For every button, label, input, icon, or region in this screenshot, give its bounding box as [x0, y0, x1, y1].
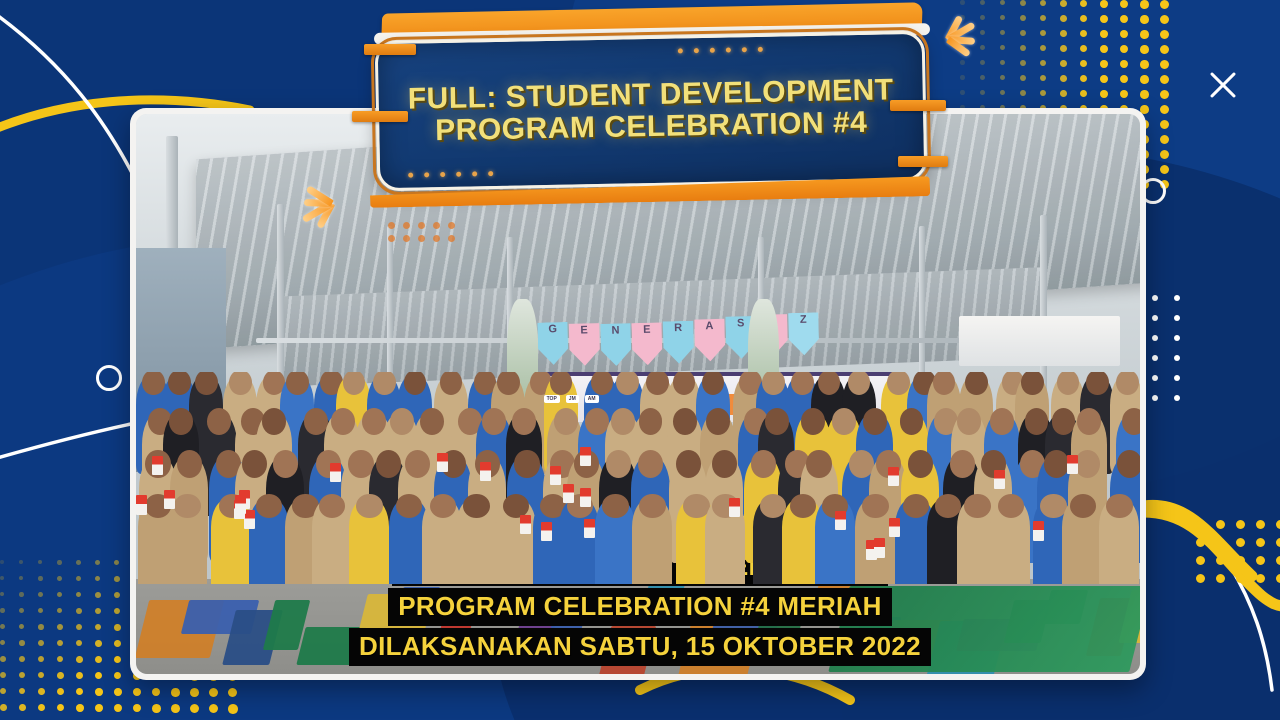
crowd-person-head — [207, 408, 231, 435]
crowd-person-head — [585, 408, 609, 435]
crowd-person-head — [1117, 450, 1140, 478]
crowd-person-head — [863, 408, 887, 435]
crowd-person-head — [497, 372, 520, 396]
crowd-person-head — [514, 450, 539, 478]
crowd-person-head — [1070, 494, 1097, 518]
banner-dots-top — [678, 47, 763, 54]
crowd-person-head — [174, 494, 201, 518]
crowd-person-head — [990, 408, 1014, 435]
banner-body: FULL: STUDENT DEVELOPMENT PROGRAM CELEBR… — [375, 31, 928, 192]
crowd-person-head — [935, 494, 962, 518]
garland-flag: G — [537, 321, 568, 364]
crowd-person-head — [390, 408, 414, 435]
garland-flag: Z — [788, 312, 819, 355]
crowd-person-head — [832, 408, 856, 435]
title-line-2: PROGRAM CELEBRATION #4 — [408, 106, 894, 147]
crowd-scarf — [520, 515, 531, 534]
backdrop-logo: AM — [585, 395, 599, 403]
crowd-person-head — [862, 494, 889, 518]
crowd-scarf — [330, 463, 341, 482]
banner-dots-bottom — [408, 171, 493, 178]
crowd-person-head — [362, 408, 386, 435]
crowd-person-head — [286, 372, 309, 396]
crowd-person-head — [482, 408, 506, 435]
crowd-person-head — [908, 450, 933, 478]
crowd-person-head — [242, 450, 267, 478]
crowd-person-head — [965, 372, 988, 396]
crowd-person-head — [712, 450, 737, 478]
crowd-person-head — [1025, 408, 1049, 435]
crowd-person-head — [376, 450, 401, 478]
crowd-person-head — [512, 408, 536, 435]
garland-flag: R — [662, 320, 693, 363]
crowd-person-head — [760, 494, 787, 518]
crowd-scarf — [889, 518, 900, 537]
crowd-scarf — [1067, 455, 1078, 474]
x-icon — [1206, 68, 1240, 102]
garland-flag: E — [631, 322, 662, 365]
crowd-person-head — [463, 494, 490, 518]
garland-flag: E — [568, 322, 599, 365]
photo-beam — [387, 226, 393, 394]
photo-beam — [277, 204, 284, 394]
crowd-scarf — [164, 490, 175, 509]
crowd-person-head — [998, 494, 1025, 518]
crowd-person-head — [177, 450, 202, 478]
crowd-person-head — [903, 494, 930, 518]
crowd-scarf — [580, 488, 591, 507]
crowd-person-head — [1122, 408, 1140, 435]
crowd-person-head — [801, 408, 825, 435]
photo-beam — [919, 226, 925, 383]
crowd-person-head — [1075, 450, 1100, 478]
photo-beam — [1040, 215, 1047, 394]
crowd-person-head — [602, 494, 629, 518]
crowd-person-head — [765, 408, 789, 435]
photo-banner-right — [959, 316, 1120, 366]
crowd-person-head — [791, 372, 814, 396]
banner-tab-left-top — [364, 44, 416, 55]
crowd-scarf — [480, 462, 491, 481]
crowd-person-head — [706, 408, 730, 435]
crowd-scarf — [152, 456, 163, 475]
crowd-person-head — [1021, 372, 1044, 396]
crowd-person-head — [169, 408, 193, 435]
crowd-person-head — [900, 408, 924, 435]
crowd-person-head — [964, 494, 991, 518]
crowd-scarf — [729, 498, 740, 517]
crowd-person-head — [639, 494, 666, 518]
crowd-person-head — [673, 408, 697, 435]
crowd-person-head — [611, 408, 635, 435]
crowd-person-head — [273, 450, 298, 478]
crowd-person-head — [373, 372, 396, 396]
crowd-person-head — [356, 494, 383, 518]
crowd-scarf — [136, 495, 147, 514]
crowd-person-head — [790, 494, 817, 518]
crowd-person-head — [957, 408, 981, 435]
crowd-person-head — [331, 408, 355, 435]
crowd-person-head — [420, 408, 444, 435]
title-text: FULL: STUDENT DEVELOPMENT PROGRAM CELEBR… — [394, 74, 909, 147]
crowd-person-head — [430, 494, 457, 518]
photo-crowd — [136, 372, 1140, 585]
crowd-scarf — [1033, 521, 1044, 540]
crowd-scarf — [580, 447, 591, 466]
crowd-person-head — [396, 494, 423, 518]
crowd-person-head — [616, 372, 639, 396]
crowd-person-head — [639, 408, 663, 435]
crowd-person-head — [1106, 494, 1133, 518]
crowd-scarf — [874, 538, 885, 557]
banner-tab-left-bottom — [352, 111, 408, 122]
crowd-scarf — [563, 484, 574, 503]
crowd-scarf — [437, 453, 448, 472]
crowd-scarf — [541, 522, 552, 541]
garland-flag: N — [600, 323, 631, 366]
crowd-scarf — [584, 519, 595, 538]
crowd-person-head — [142, 372, 165, 396]
banner-tab-right-top — [890, 100, 946, 111]
crowd-person-head — [168, 372, 191, 396]
crowd-person-head — [554, 408, 578, 435]
crowd-person-head — [806, 450, 831, 478]
circle-outline-left — [96, 365, 122, 391]
caption-line-3: DILAKSANAKAN SABTU, 15 OKTOBER 2022 — [349, 628, 931, 666]
video-thumbnail-canvas: GENERASIZ TOPJMAM FULL: STUDENT DEVELOPM… — [0, 0, 1280, 720]
crowd-scarf — [550, 466, 561, 485]
caption-line-2: PROGRAM CELEBRATION #4 MERIAH — [388, 588, 891, 626]
crowd-person-head — [751, 450, 776, 478]
garland-flag: A — [694, 318, 725, 361]
crowd-person-head — [1077, 408, 1101, 435]
crowd-scarf — [994, 470, 1005, 489]
crowd-person-head — [262, 408, 286, 435]
title-banner: FULL: STUDENT DEVELOPMENT PROGRAM CELEBR… — [352, 6, 942, 206]
crowd-person-head — [887, 372, 910, 396]
crowd-person-head — [304, 408, 328, 435]
crowd-scarf — [888, 467, 899, 486]
crowd-person-head — [405, 450, 430, 478]
banner-tab-right-bottom — [898, 156, 948, 167]
crowd-scarf — [235, 495, 246, 514]
backdrop-logo: JM — [566, 395, 579, 403]
backdrop-logo: TOP — [544, 395, 560, 403]
crowd-scarf — [835, 511, 846, 530]
crowd-scarf — [244, 510, 255, 529]
